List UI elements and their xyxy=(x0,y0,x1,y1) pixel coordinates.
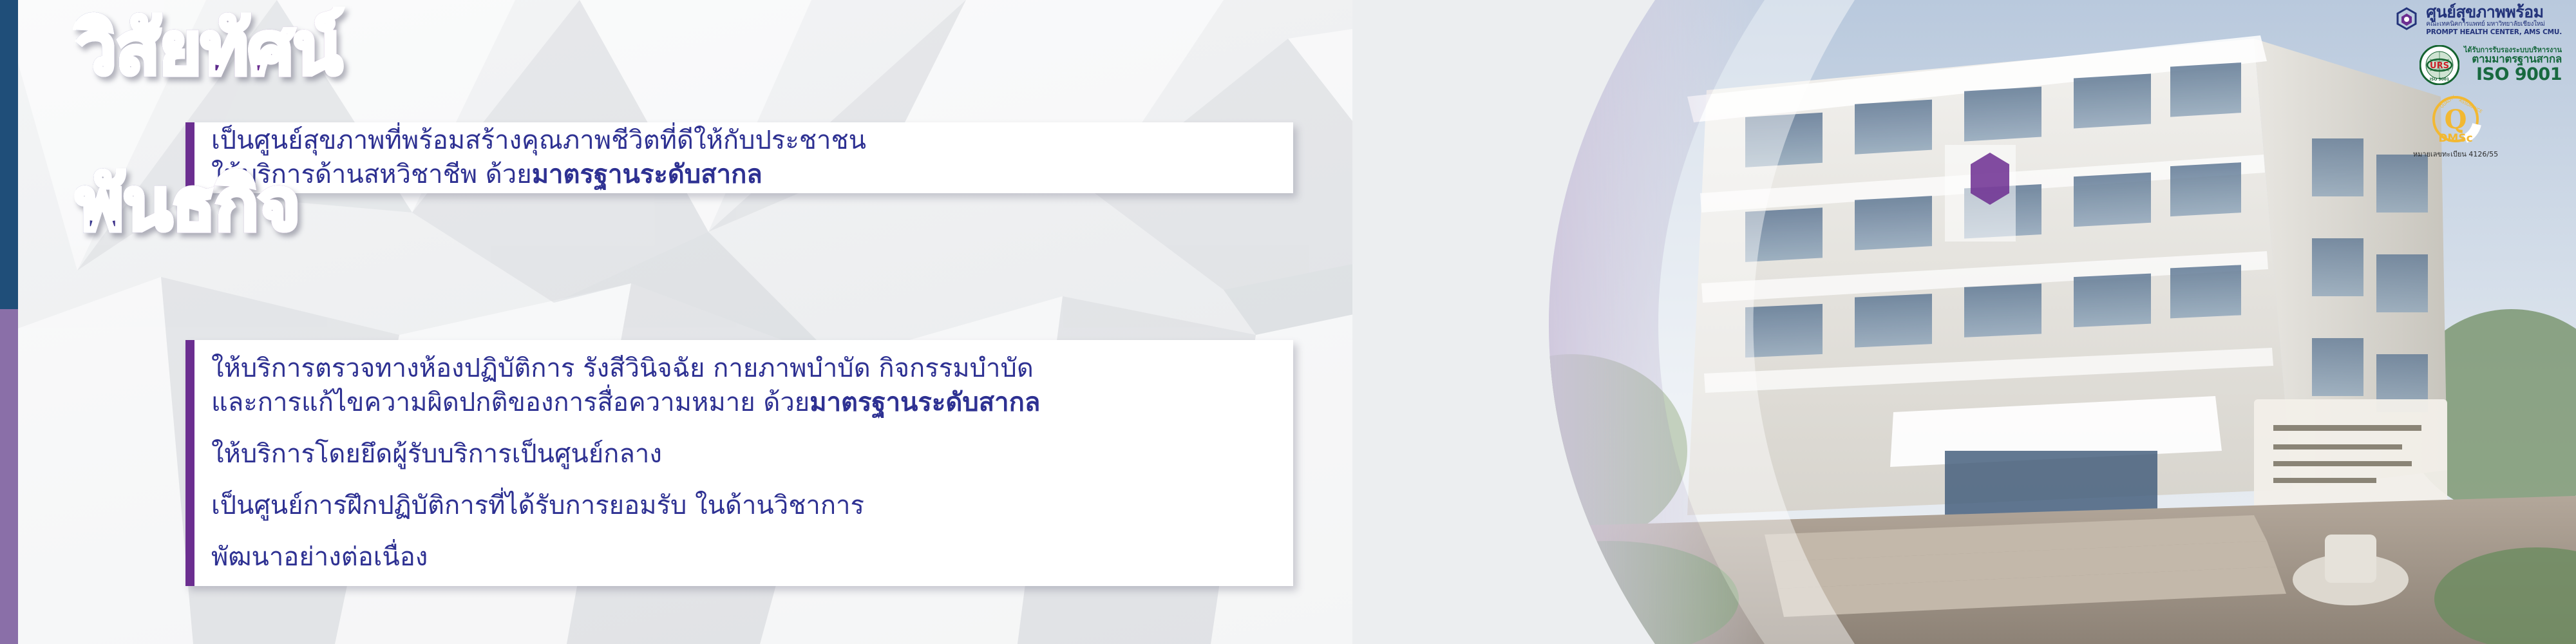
left-accent-bar-top xyxy=(0,0,18,309)
mission-card-accent-bar xyxy=(185,340,194,586)
iso-line-3: ISO 9001 xyxy=(2464,66,2562,83)
registration-number: หมายเลขทะเบียน 4126/55 xyxy=(2349,148,2562,160)
mission-paragraph: ให้บริการโดยยึดผู้รับบริการเป็นศูนย์กลาง xyxy=(211,437,1040,471)
svg-text:URS: URS xyxy=(2430,61,2449,71)
vision-line-2-bold: มาตรฐานระดับสากล xyxy=(532,160,762,189)
mission-p2-line-1: ให้บริการโดยยึดผู้รับบริการเป็นศูนย์กลาง xyxy=(211,437,1040,471)
urs-iso9001-seal-icon: URS ISO 9001 xyxy=(2420,45,2459,85)
mission-card: ให้บริการตรวจทางห้องปฏิบัติการ รังสีวินิ… xyxy=(185,340,1293,586)
svg-text:Q: Q xyxy=(2445,104,2467,135)
logo-certification-block: ศูนย์สุขภาพพร้อม คณะเทคนิคการแพทย์ มหาวิ… xyxy=(2349,4,2562,160)
iso-certification-row: URS ISO 9001 ได้รับการรับรองระบบบริหารงา… xyxy=(2349,45,2562,85)
vision-line-1: เป็นศูนย์สุขภาพที่พร้อมสร้างคุณภาพชีวิตท… xyxy=(211,124,866,158)
brand-title-th: ศูนย์สุขภาพพร้อม xyxy=(2426,3,2543,21)
vision-line-1-text: เป็นศูนย์สุขภาพที่พร้อมสร้างคุณภาพชีวิตท… xyxy=(211,126,866,155)
brand-subtitle-th: คณะเทคนิคการแพทย์ มหาวิทยาลัยเชียงใหม่ xyxy=(2426,21,2562,28)
vision-heading-text: วิสัยทัศน์ xyxy=(76,7,341,91)
mission-paragraph: พัฒนาอย่างต่อเนื่อง xyxy=(211,540,1040,574)
brand-text: ศูนย์สุขภาพพร้อม คณะเทคนิคการแพทย์ มหาวิ… xyxy=(2426,4,2562,36)
svg-text:ISO 9001: ISO 9001 xyxy=(2430,77,2449,82)
left-accent-bar-bottom xyxy=(0,309,18,644)
mission-paragraph: ให้บริการตรวจทางห้องปฏิบัติการ รังสีวินิ… xyxy=(211,352,1040,420)
mission-p4-line-1-text: พัฒนาอย่างต่อเนื่อง xyxy=(211,542,428,572)
dmsc-quality-assurance-seal-icon: Q DMSc QUALITY ASSURANCE xyxy=(2428,91,2483,147)
mission-paragraph: เป็นศูนย์การฝึกปฏิบัติการที่ได้รับการยอม… xyxy=(211,489,1040,523)
mission-heading-text: พันธกิจ xyxy=(76,163,299,247)
vision-line-2: ให้บริการด้านสหวิชาชีพ ด้วยมาตรฐานระดับส… xyxy=(211,158,866,192)
brand-title-en: PROMPT HEALTH CENTER, AMS CMU. xyxy=(2426,28,2562,36)
mission-p3-line-1-text: เป็นศูนย์การฝึกปฏิบัติการที่ได้รับการยอม… xyxy=(211,491,864,520)
iso-text-block: ได้รับการรับรองระบบบริหารงาน ตามมาตรฐานส… xyxy=(2464,46,2562,83)
mission-p3-line-1: เป็นศูนย์การฝึกปฏิบัติการที่ได้รับการยอม… xyxy=(211,489,1040,523)
brand-row: ศูนย์สุขภาพพร้อม คณะเทคนิคการแพทย์ มหาวิ… xyxy=(2349,4,2562,36)
mission-heading: พันธกิจ xyxy=(76,169,299,241)
mission-p4-line-1: พัฒนาอย่างต่อเนื่อง xyxy=(211,540,1040,574)
prompt-health-logo-icon xyxy=(2392,6,2421,34)
vision-mission-banner: วิสัยทัศน์ เป็นศูนย์สุขภาพที่พร้อมสร้างค… xyxy=(0,0,2576,644)
vision-card: เป็นศูนย์สุขภาพที่พร้อมสร้างคุณภาพชีวิตท… xyxy=(185,122,1293,193)
mission-p2-line-1-text: ให้บริการโดยยึดผู้รับบริการเป็นศูนย์กลาง xyxy=(211,439,662,469)
mission-p1-line-2-bold: มาตรฐานระดับสากล xyxy=(810,388,1040,417)
vision-heading: วิสัยทัศน์ xyxy=(76,13,341,85)
svg-text:DMSc: DMSc xyxy=(2438,132,2472,145)
mission-p1-line-1: ให้บริการตรวจทางห้องปฏิบัติการ รังสีวินิ… xyxy=(211,352,1040,386)
mission-p1-line-2: และการแก้ไขความผิดปกติของการสื่อความหมาย… xyxy=(211,386,1040,420)
mission-p1-line-2-text: และการแก้ไขความผิดปกติของการสื่อความหมาย… xyxy=(211,388,810,417)
mission-p1-line-1-text: ให้บริการตรวจทางห้องปฏิบัติการ รังสีวินิ… xyxy=(211,354,1034,383)
mission-card-body: ให้บริการตรวจทางห้องปฏิบัติการ รังสีวินิ… xyxy=(194,340,1057,586)
